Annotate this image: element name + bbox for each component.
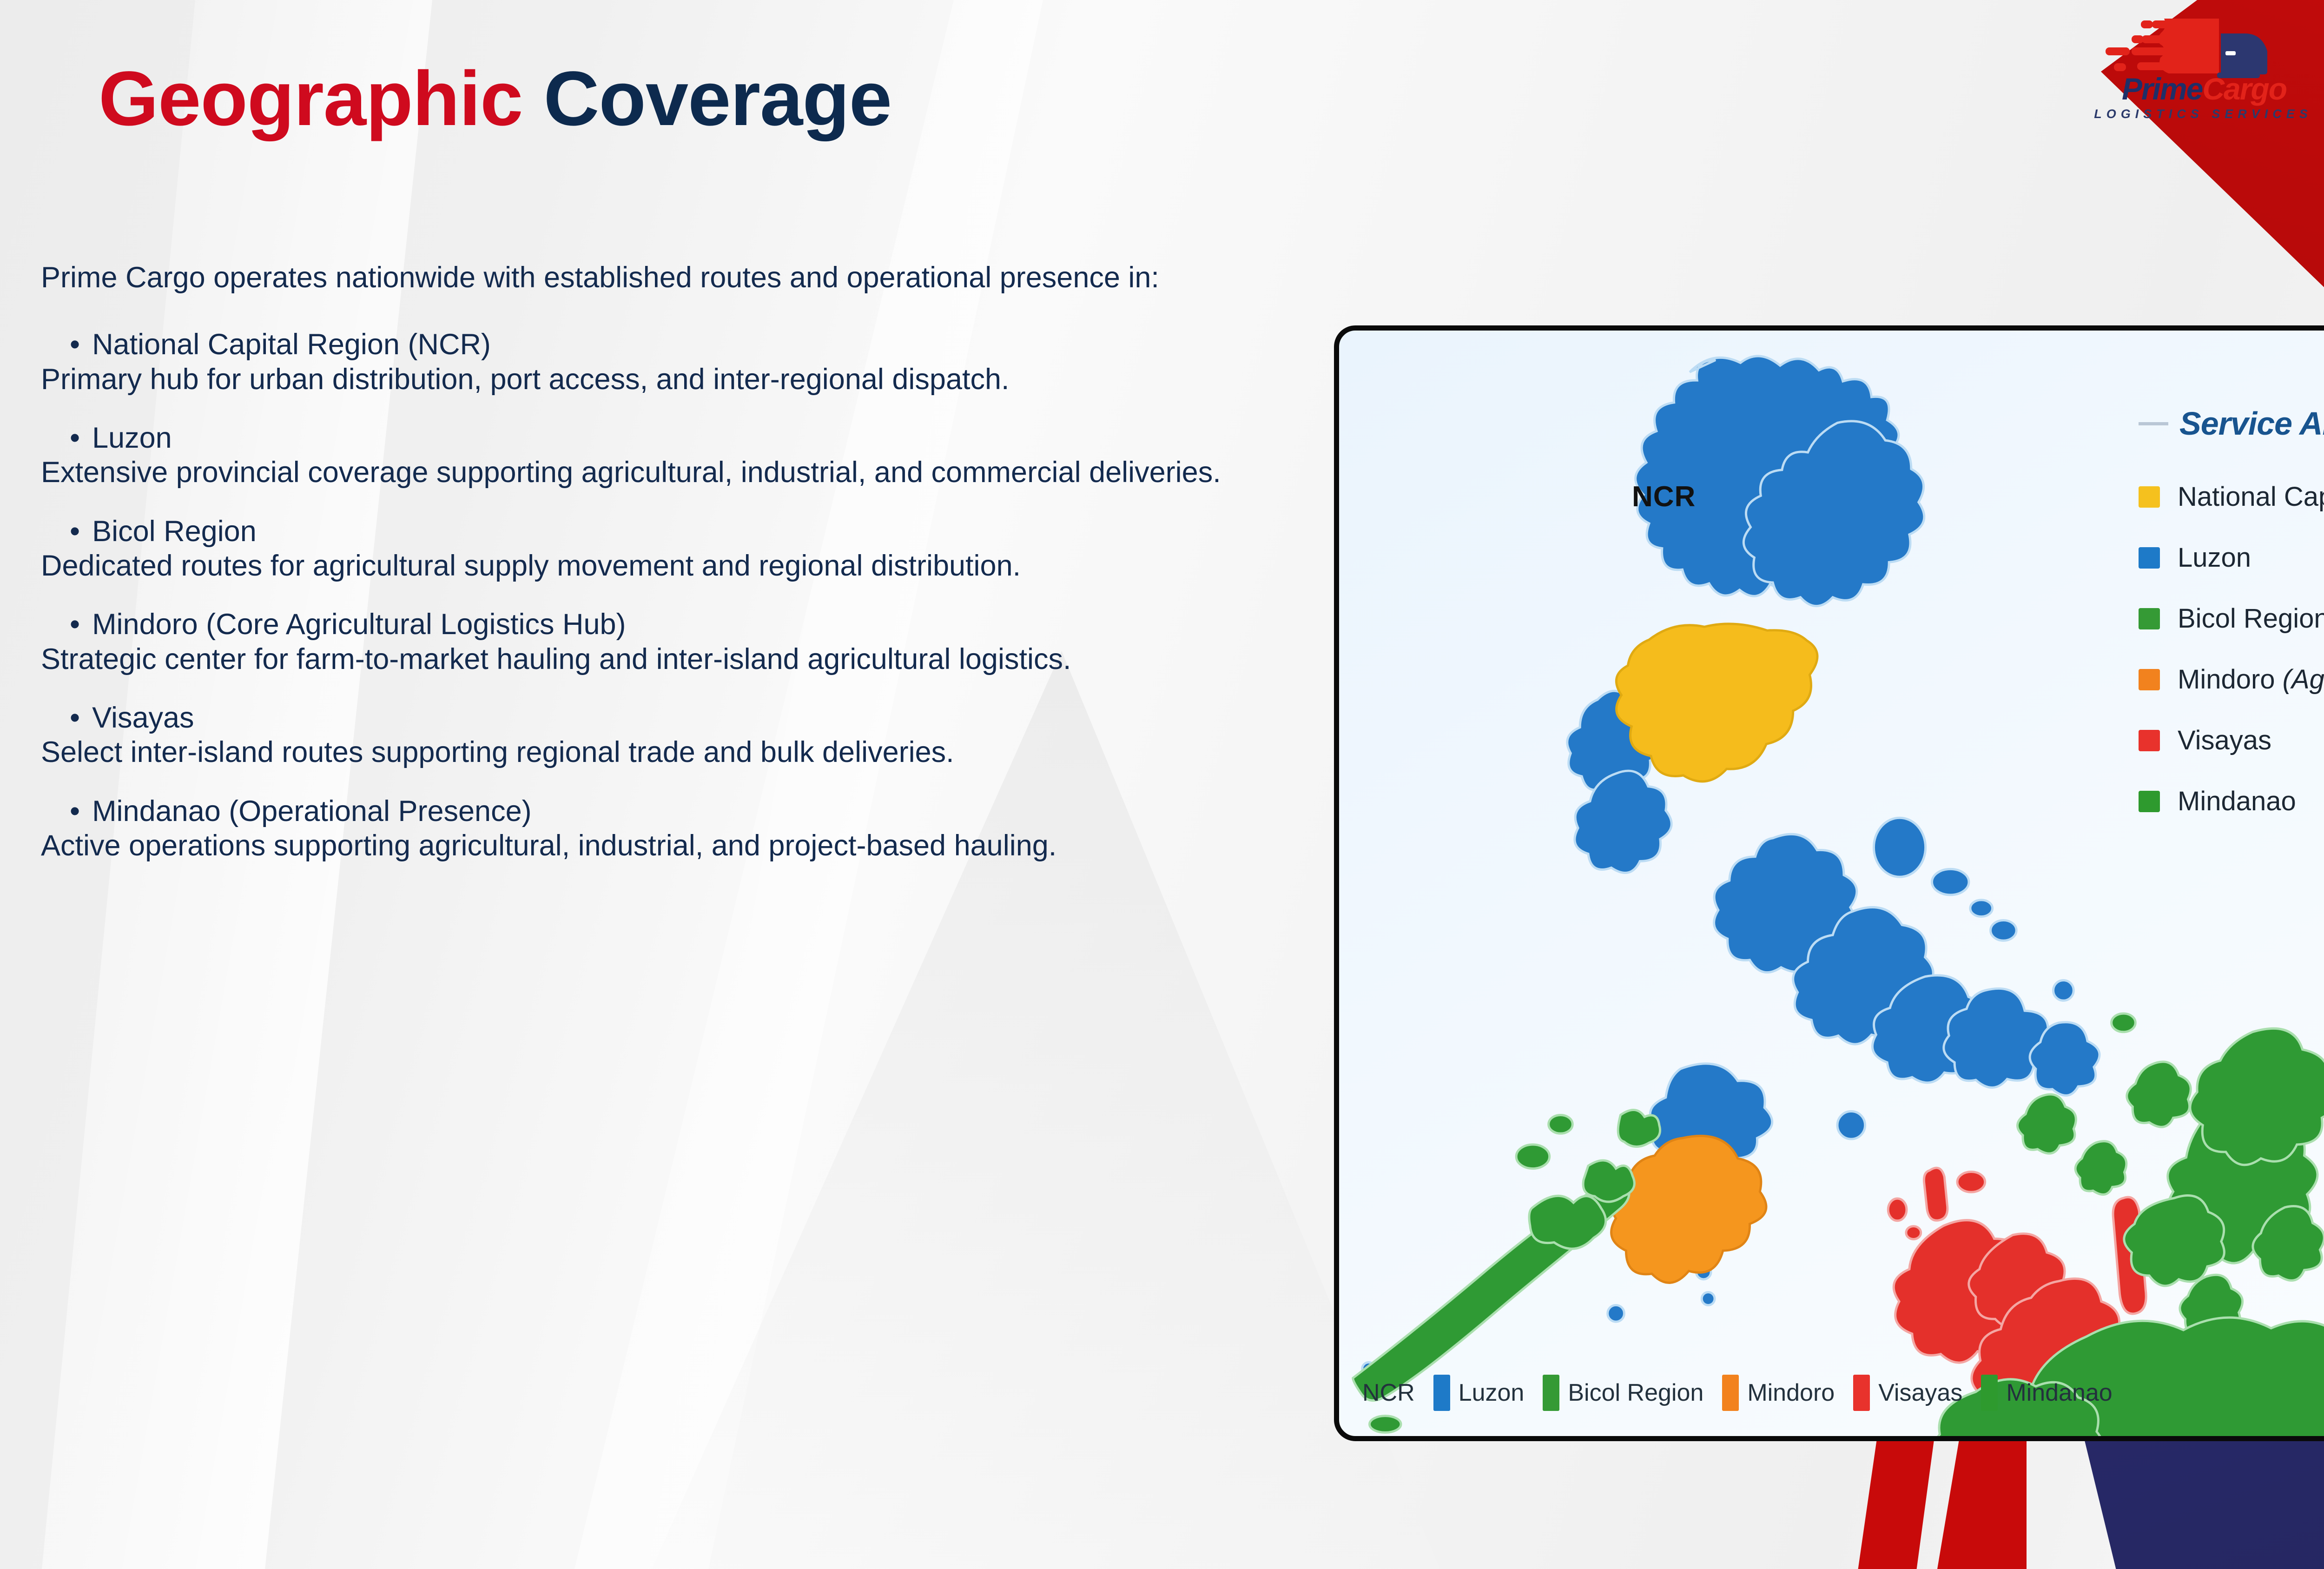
legend-label-mindoro: Mindoro (Agricultural Hub)	[2178, 664, 2324, 695]
strip-item-mindanao[interactable]: Mindanao	[1981, 1375, 2112, 1411]
legend-label-mindanao: Mindanao	[2178, 786, 2296, 817]
intro-paragraph: Prime Cargo operates nationwide with est…	[41, 260, 1305, 295]
coverage-block-bicol: Bicol Region Dedicated routes for agricu…	[41, 514, 1305, 583]
map-label-ncr: NCR	[1632, 480, 1696, 513]
legend-item-bicol[interactable]: Bicol Region	[2139, 603, 2324, 634]
coverage-desc-luzon: Extensive provincial coverage supporting…	[41, 455, 1305, 490]
map-bottom-legend-strip: NCR Luzon Bicol Region Mindoro Visayas M…	[1362, 1375, 2324, 1411]
logo-word-cargo: Cargo	[2202, 72, 2286, 106]
strip-swatch-mindoro	[1722, 1375, 1739, 1411]
legend-item-luzon[interactable]: Luzon	[2139, 542, 2324, 573]
coverage-bullet-bicol: Bicol Region	[41, 514, 1305, 549]
legend-item-mindoro[interactable]: Mindoro (Agricultural Hub)	[2139, 664, 2324, 695]
strip-swatch-visayas	[1853, 1375, 1870, 1411]
coverage-block-visayas: Visayas Select inter-island routes suppo…	[41, 701, 1305, 770]
strip-label-visayas: Visayas	[1878, 1379, 1962, 1407]
coverage-bullet-mindoro: Mindoro (Core Agricultural Logistics Hub…	[41, 607, 1305, 642]
strip-item-bicol[interactable]: Bicol Region	[1543, 1375, 1703, 1411]
legend-label-bicol: Bicol Region	[2178, 603, 2324, 634]
strip-swatch-luzon	[1433, 1375, 1450, 1411]
logo-tagline: LOGISTICS SERVICES	[2092, 107, 2315, 121]
strip-label-bicol: Bicol Region	[1568, 1379, 1703, 1407]
strip-label-mindanao: Mindanao	[2006, 1379, 2112, 1407]
strip-item-luzon[interactable]: Luzon	[1433, 1375, 1525, 1411]
strip-item-visayas[interactable]: Visayas	[1853, 1375, 1962, 1411]
legend-item-mindanao[interactable]: Mindanao	[2139, 786, 2324, 817]
legend-swatch-ncr	[2139, 486, 2160, 508]
legend-label-ncr: National Capital Region (NCR)	[2178, 481, 2324, 512]
legend-title: Service Areas	[2179, 405, 2324, 442]
legend-header: Service Areas	[2139, 405, 2324, 442]
strip-swatch-mindanao	[1981, 1375, 1998, 1411]
legend-label-luzon: Luzon	[2178, 542, 2251, 573]
legend-rule-left	[2139, 422, 2168, 425]
coverage-bullet-ncr: National Capital Region (NCR)	[41, 327, 1305, 362]
coverage-desc-ncr: Primary hub for urban distribution, port…	[41, 362, 1305, 397]
coverage-description: Prime Cargo operates nationwide with est…	[41, 260, 1305, 887]
coverage-block-mindoro: Mindoro (Core Agricultural Logistics Hub…	[41, 607, 1305, 676]
strip-label-mindoro: Mindoro	[1747, 1379, 1835, 1407]
coverage-desc-visayas: Select inter-island routes supporting re…	[41, 735, 1305, 769]
page-title-part1: Geographic	[99, 56, 522, 142]
company-logo: PrimeCargo LOGISTICS SERVICES	[2045, 14, 2305, 153]
strip-item-mindoro[interactable]: Mindoro	[1722, 1375, 1835, 1411]
strip-item-ncr[interactable]: NCR	[1362, 1379, 1415, 1407]
strip-swatch-bicol	[1543, 1375, 1559, 1411]
service-area-map-card: NCR Service Areas National Capital Regio…	[1334, 325, 2324, 1441]
logo-wordmark: PrimeCargo	[2097, 73, 2311, 104]
coverage-bullet-visayas: Visayas	[41, 701, 1305, 735]
strip-label-luzon: Luzon	[1459, 1379, 1525, 1407]
legend-swatch-luzon	[2139, 547, 2160, 569]
legend-item-ncr[interactable]: National Capital Region (NCR)	[2139, 481, 2324, 512]
coverage-desc-bicol: Dedicated routes for agricultural supply…	[41, 549, 1305, 583]
legend-swatch-bicol	[2139, 608, 2160, 629]
strip-label-ncr: NCR	[1362, 1379, 1415, 1407]
legend-swatch-visayas	[2139, 730, 2160, 751]
coverage-desc-mindanao: Active operations supporting agricultura…	[41, 828, 1305, 863]
page-title-part2: Coverage	[544, 56, 892, 142]
legend-item-visayas[interactable]: Visayas	[2139, 725, 2324, 756]
coverage-block-mindanao: Mindanao (Operational Presence) Active o…	[41, 794, 1305, 863]
logo-word-prime: Prime	[2122, 72, 2202, 106]
page-title: Geographic Coverage	[99, 60, 891, 138]
coverage-block-luzon: Luzon Extensive provincial coverage supp…	[41, 421, 1305, 490]
legend-label-visayas: Visayas	[2178, 725, 2271, 756]
legend-swatch-mindanao	[2139, 791, 2160, 812]
coverage-desc-mindoro: Strategic center for farm-to-market haul…	[41, 642, 1305, 676]
legend-swatch-mindoro	[2139, 669, 2160, 690]
map-legend: Service Areas National Capital Region (N…	[2139, 405, 2324, 847]
coverage-bullet-luzon: Luzon	[41, 421, 1305, 455]
coverage-block-ncr: National Capital Region (NCR) Primary hu…	[41, 327, 1305, 397]
coverage-bullet-mindanao: Mindanao (Operational Presence)	[41, 794, 1305, 828]
